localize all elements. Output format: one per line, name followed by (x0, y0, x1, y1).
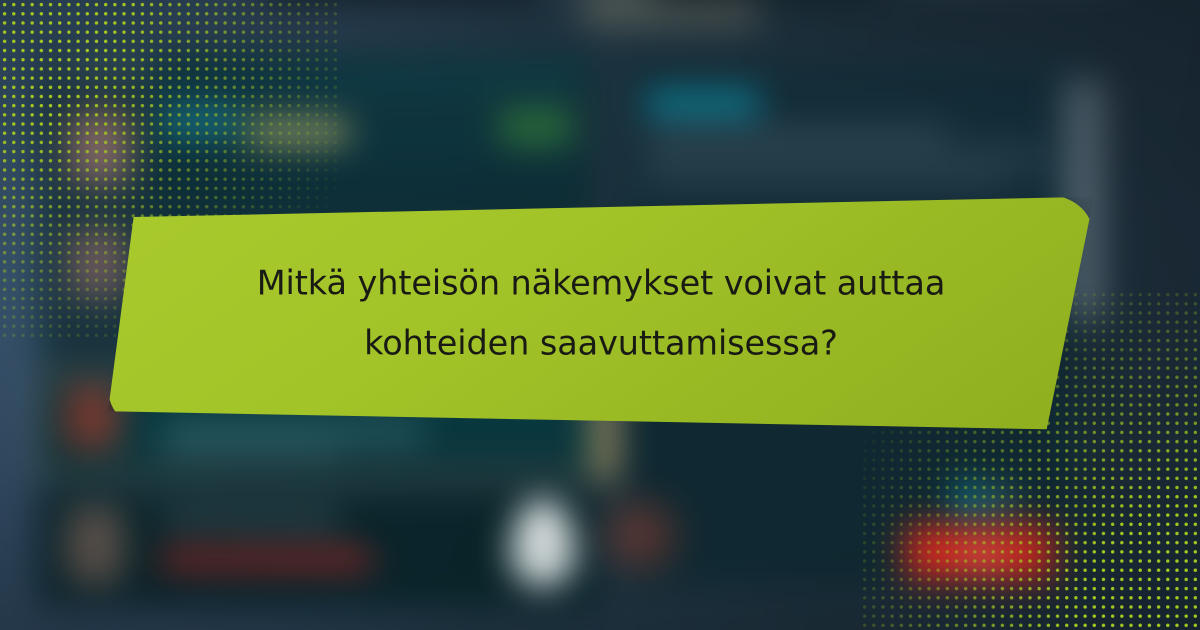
text-placeholder-line (646, 172, 1006, 186)
text-placeholder-line (646, 128, 946, 142)
top-dark-bar-right (650, 0, 890, 2)
text-placeholder-line (160, 510, 340, 528)
question-line-1: Mitkä yhteisön näkemykset voivat auttaa (178, 253, 1024, 313)
screenshot-canvas: Mitkä yhteisön näkemykset voivat auttaa … (0, 0, 1200, 630)
question-card[interactable]: Mitkä yhteisön näkemykset voivat auttaa … (108, 196, 1094, 430)
error-text-placeholder (160, 550, 372, 570)
question-line-2: kohteiden saavuttamisessa? (178, 313, 1024, 373)
question-text: Mitkä yhteisön näkemykset voivat auttaa … (108, 253, 1094, 372)
text-placeholder-line (646, 150, 1046, 164)
teal-badge (160, 110, 238, 132)
avatar (68, 110, 130, 184)
red-button-label (960, 548, 1004, 562)
top-warm-bar (580, 0, 760, 26)
yellow-badge (248, 122, 348, 142)
red-glow-accent (596, 480, 686, 590)
avatar (66, 508, 124, 584)
green-status-chip (500, 110, 572, 144)
list-row (148, 58, 584, 100)
teal-badge (646, 90, 760, 116)
text-placeholder-line (162, 446, 338, 456)
top-dark-bar-left (260, 0, 540, 4)
teal-label-badge (984, 490, 1014, 512)
teal-icon-badge (956, 484, 978, 514)
